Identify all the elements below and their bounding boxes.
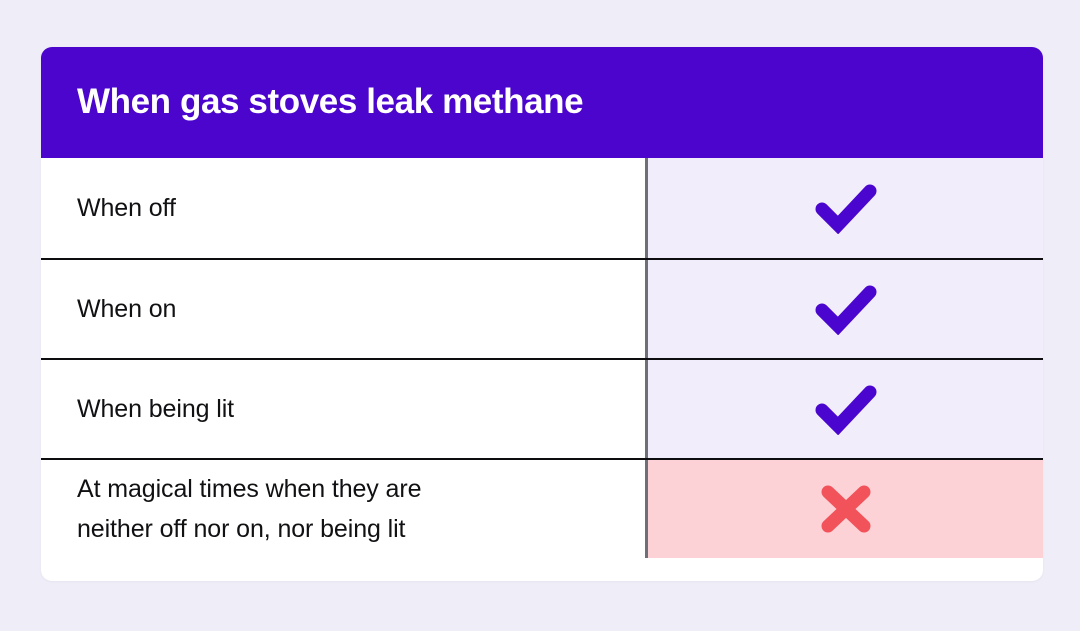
row-status-cell bbox=[648, 460, 1043, 558]
row-label-cell: When being lit bbox=[41, 360, 645, 458]
check-icon bbox=[815, 283, 877, 335]
table-body: When off When on bbox=[41, 158, 1043, 558]
table-row: At magical times when they are neither o… bbox=[41, 458, 1043, 558]
row-label-cell: At magical times when they are neither o… bbox=[41, 460, 645, 558]
row-label-line-1: When being lit bbox=[77, 389, 609, 430]
page-title: When gas stoves leak methane bbox=[77, 83, 583, 122]
row-status-cell bbox=[648, 260, 1043, 358]
row-label-cell: When off bbox=[41, 158, 645, 258]
row-status-cell bbox=[648, 360, 1043, 458]
row-label-line-1: At magical times when they are bbox=[77, 469, 609, 510]
row-status-cell bbox=[648, 158, 1043, 258]
row-label-line-2: neither off nor on, nor being lit bbox=[77, 509, 609, 550]
row-label-line-1: When off bbox=[77, 188, 609, 229]
check-icon bbox=[815, 182, 877, 234]
row-label-cell: When on bbox=[41, 260, 645, 358]
row-label-line-1: When on bbox=[77, 289, 609, 330]
comparison-table-card: When gas stoves leak methane When off Wh… bbox=[41, 47, 1043, 581]
check-icon bbox=[815, 383, 877, 435]
table-row: When being lit bbox=[41, 358, 1043, 458]
page-root: When gas stoves leak methane When off Wh… bbox=[0, 0, 1080, 631]
table-row: When on bbox=[41, 258, 1043, 358]
cross-icon bbox=[815, 483, 877, 535]
table-header: When gas stoves leak methane bbox=[41, 47, 1043, 158]
table-row: When off bbox=[41, 158, 1043, 258]
